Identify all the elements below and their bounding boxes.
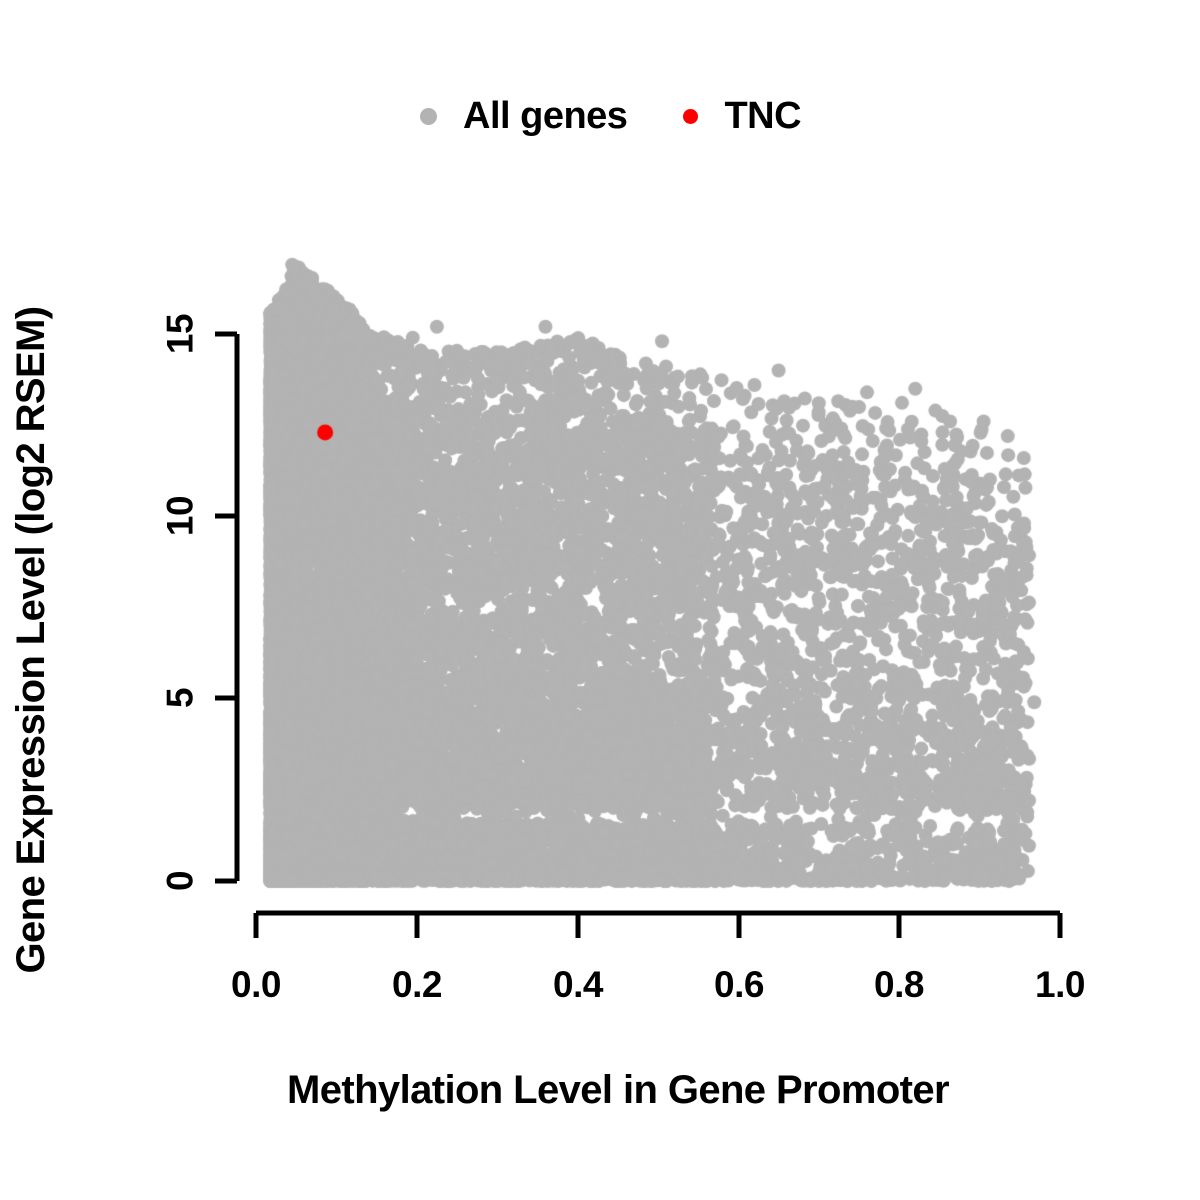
x-axis-title-text: Methylation Level in Gene Promoter xyxy=(287,1068,949,1112)
y-tick-label-2: 10 xyxy=(162,496,199,536)
scatter-points-layer xyxy=(0,0,1200,1200)
x-tick-label-4: 0.8 xyxy=(874,966,924,1003)
x-tick-label-1: 0.2 xyxy=(392,966,442,1003)
x-tick-label-2: 0.4 xyxy=(553,966,603,1003)
x-axis-title: Methylation Level in Gene Promoter xyxy=(0,1068,1200,1113)
y-tick-label-3: 15 xyxy=(162,314,199,354)
x-tick-label-3: 0.6 xyxy=(714,966,764,1003)
x-tick-label-0: 0.0 xyxy=(231,966,281,1003)
y-tick-label-1: 5 xyxy=(162,688,199,708)
x-tick-label-5: 1.0 xyxy=(1035,966,1085,1003)
y-tick-label-0: 0 xyxy=(162,871,199,891)
scatter-plot-figure: All genes TNC 0.0 0.2 0.4 xyxy=(0,0,1200,1200)
